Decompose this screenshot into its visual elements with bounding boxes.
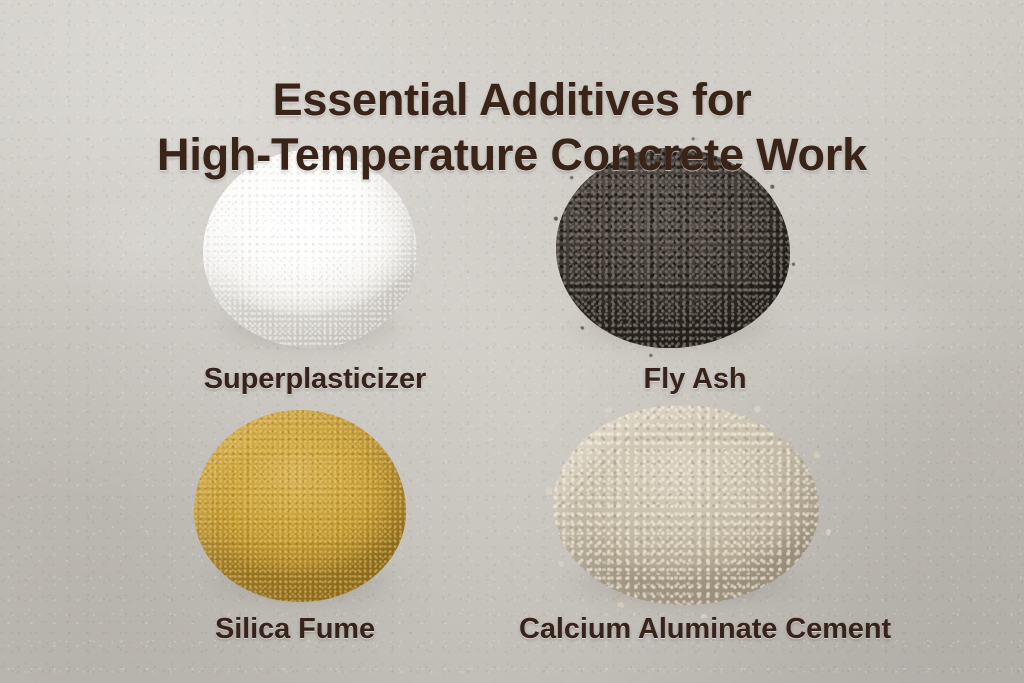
golden-powder-pile-icon	[194, 410, 406, 602]
pile-body	[553, 405, 819, 605]
item-label-silica-fume: Silica Fume	[175, 613, 415, 646]
item-label-superplasticizer: Superplasticizer	[120, 363, 510, 396]
page-title: Essential Additives for High-Temperature…	[0, 18, 1024, 238]
item-label-calcium-aluminate-cement: Calcium Aluminate Cement	[455, 613, 955, 646]
title-line-2: High-Temperature Concrete Work	[0, 128, 1024, 183]
poster-canvas: Essential Additives for High-Temperature…	[0, 0, 1024, 683]
title-line-1: Essential Additives for	[273, 74, 752, 125]
beige-powder-pile-icon	[553, 405, 819, 605]
item-label-fly-ash: Fly Ash	[560, 363, 830, 396]
pile-body	[194, 410, 406, 602]
